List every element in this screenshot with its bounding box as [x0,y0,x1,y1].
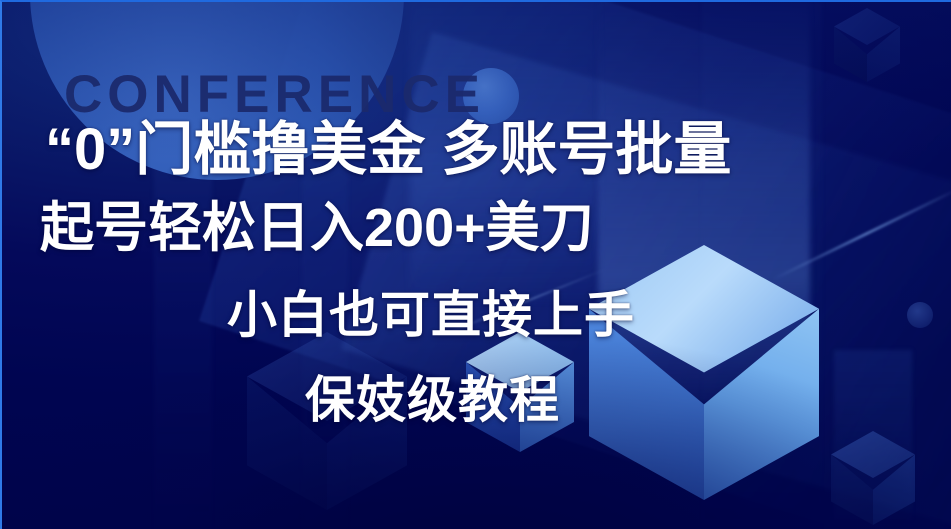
promo-banner: CONFERENCE “0”门槛撸美金 多账号批量 起号轻松日入200+美刀 小… [0,0,951,529]
headline-line-4: 保妓级教程 [305,375,560,425]
headline-line-1: “0”门槛撸美金 多账号批量 [45,121,731,179]
headline-block: “0”门槛撸美金 多账号批量 起号轻松日入200+美刀 小白也可直接上手 保妓级… [2,2,951,529]
headline-line-2: 起号轻松日入200+美刀 [40,201,594,255]
headline-line-3: 小白也可直接上手 [227,290,635,340]
